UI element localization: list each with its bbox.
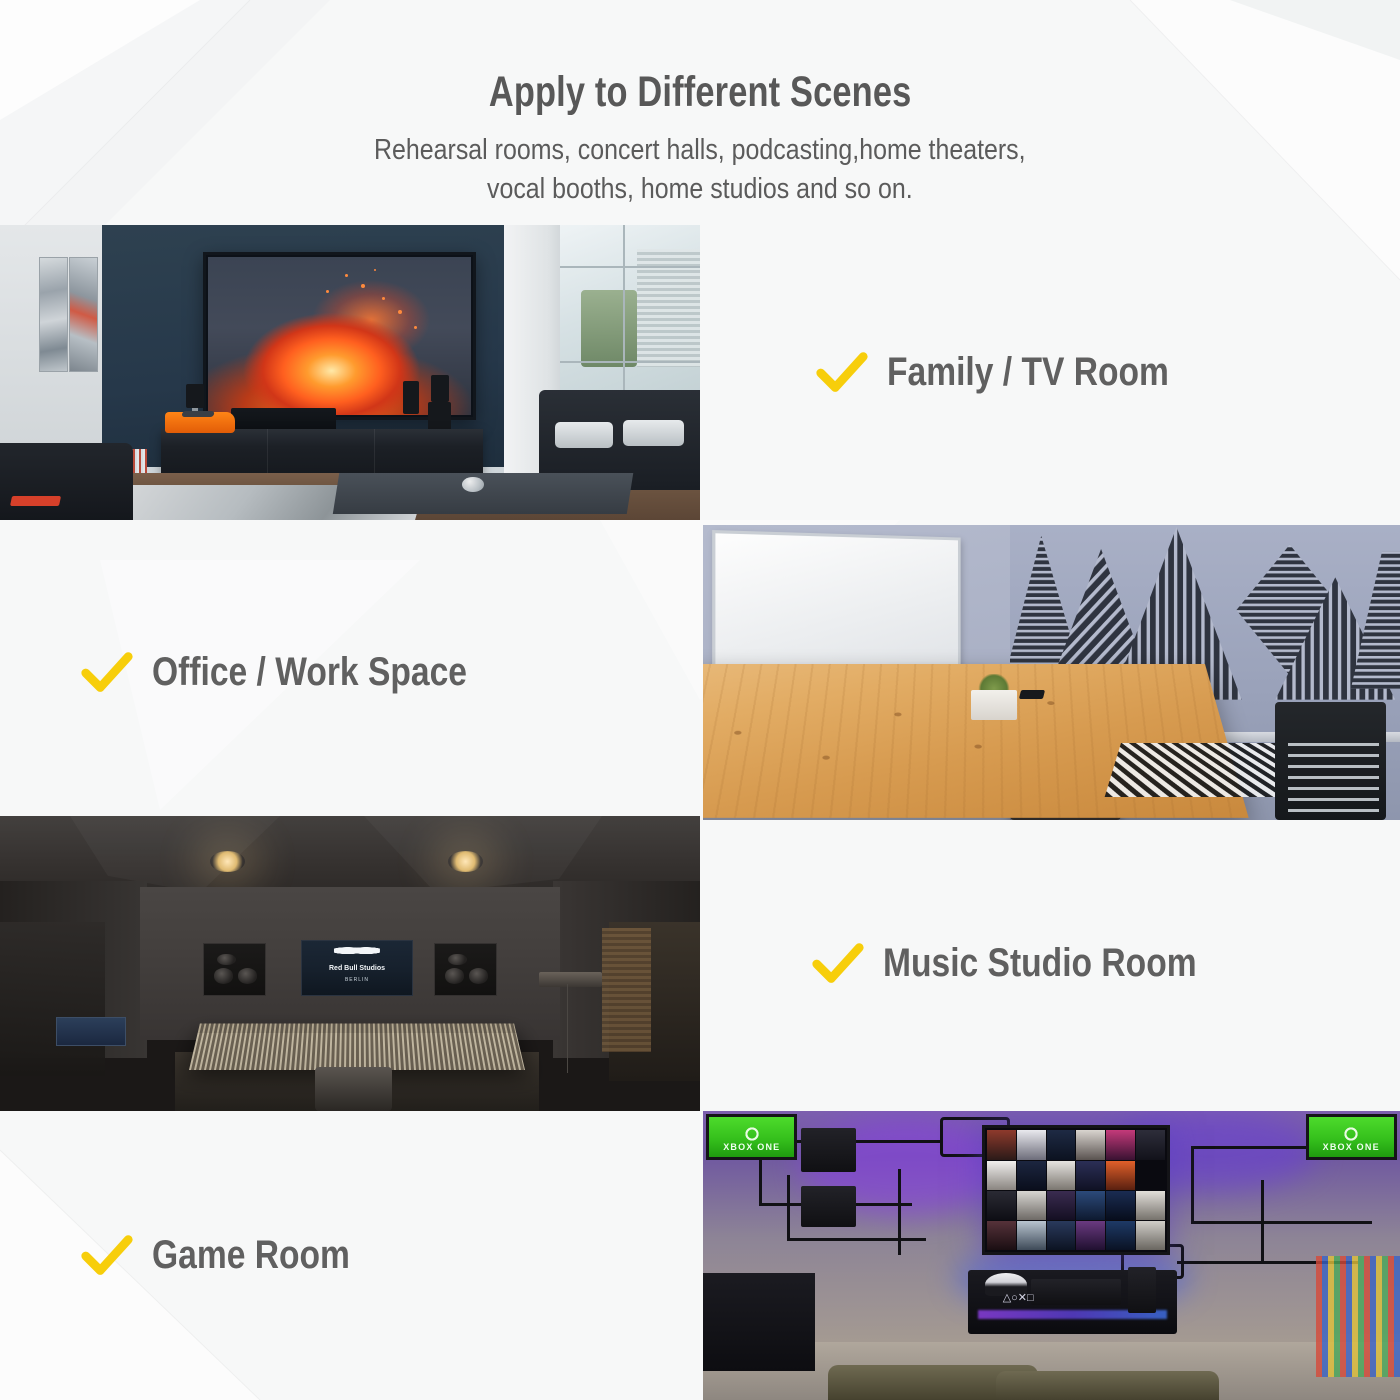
meeting-room-photo bbox=[703, 525, 1400, 820]
scene-label-music-studio-room: Music Studio Room bbox=[703, 816, 1400, 1111]
page-header: Apply to Different Scenes Rehearsal room… bbox=[0, 0, 1400, 225]
scene-label-text: Game Room bbox=[152, 1233, 350, 1278]
subtitle-line-2: vocal booths, home studios and so on. bbox=[374, 170, 1026, 209]
check-icon bbox=[809, 935, 867, 993]
scene-row-game-room: Game Room bbox=[0, 1111, 1400, 1400]
scene-label-text: Music Studio Room bbox=[883, 941, 1197, 986]
game-room-tv bbox=[982, 1125, 1170, 1255]
xbox-sign-right: XBOX ONE bbox=[1306, 1114, 1397, 1160]
check-icon bbox=[78, 644, 136, 702]
page-subtitle: Rehearsal rooms, concert halls, podcasti… bbox=[374, 131, 1026, 208]
game-room-photo: XBOX ONE XBOX ONE bbox=[703, 1111, 1400, 1400]
recording-studio-photo: Red Bull Studios BERLIN bbox=[0, 816, 700, 1111]
scene-row-family-tv-room: Family / TV Room bbox=[0, 225, 1400, 520]
scene-row-music-studio-room: Red Bull Studios BERLIN Music Studio Roo… bbox=[0, 816, 1400, 1111]
subtitle-line-1: Rehearsal rooms, concert halls, podcasti… bbox=[374, 131, 1026, 170]
living-room-photo bbox=[0, 225, 700, 520]
scene-label-office-work-space: Office / Work Space bbox=[0, 525, 700, 820]
scene-label-text: Office / Work Space bbox=[152, 650, 467, 695]
xbox-sign-left: XBOX ONE bbox=[706, 1114, 797, 1160]
scene-label-game-room: Game Room bbox=[0, 1111, 700, 1400]
studio-screen-city: BERLIN bbox=[302, 977, 412, 983]
studio-screen-brand: Red Bull Studios bbox=[302, 965, 412, 972]
scene-label-text: Family / TV Room bbox=[887, 350, 1169, 395]
scene-grid: Family / TV Room Office / Work Space bbox=[0, 225, 1400, 1400]
scene-label-family-tv-room: Family / TV Room bbox=[703, 225, 1400, 520]
xbox-sign-text: XBOX ONE bbox=[709, 1142, 794, 1152]
page-title: Apply to Different Scenes bbox=[489, 68, 912, 117]
check-icon bbox=[813, 344, 871, 402]
xbox-sign-text: XBOX ONE bbox=[1309, 1142, 1394, 1152]
playstation-symbols: △○✕□ bbox=[1003, 1293, 1020, 1305]
check-icon bbox=[78, 1227, 136, 1285]
scene-row-office-work-space: Office / Work Space bbox=[0, 525, 1400, 820]
